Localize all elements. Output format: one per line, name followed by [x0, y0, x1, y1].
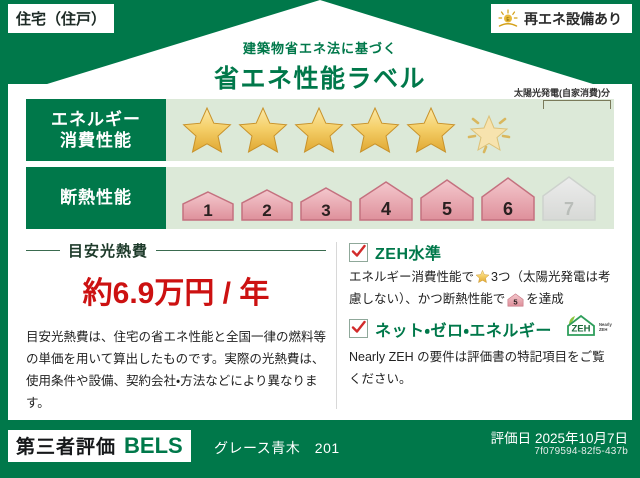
star-filled-2 — [236, 104, 290, 156]
evaluation-date-label: 評価日 — [491, 431, 532, 446]
inline-star-icon — [475, 269, 490, 284]
star-filled-5 — [404, 104, 458, 156]
solar-bracket — [543, 100, 611, 109]
label-footer: 第三者評価 BELS グレース青木 201 評価日 2025年10月7日 7f0… — [0, 420, 640, 478]
column-divider — [336, 242, 337, 409]
energy-label-card: 住宅（住戸） E 再エネ設備あり 建築物省エネ法に基づく 省エネ性能ラベル エネ… — [0, 0, 640, 478]
star-solar-6 — [460, 104, 518, 156]
insulation-level-2: 2 — [239, 183, 295, 222]
sun-icon: E — [497, 9, 519, 29]
energy-performance-row: エネルギー 消費性能 — [26, 99, 614, 161]
insulation-level-4: 4 — [357, 178, 415, 222]
cost-column: 目安光熱費 約6.9万円 / 年 目安光熱費は、住宅の省エネ性能と全国一律の燃料… — [26, 238, 336, 413]
svg-text:5: 5 — [442, 199, 452, 219]
insulation-level-5: 5 — [418, 177, 476, 222]
energy-performance-value: 太陽光発電(自家消費)分 — [166, 99, 614, 161]
insulation-level-6: 6 — [479, 176, 537, 222]
net-zero-head: ネット・ゼロ・エネルギー ZEH Nearly ZEH — [349, 313, 614, 344]
check-icon — [351, 244, 366, 259]
inline-house-badge-icon: 5 — [507, 293, 524, 307]
solar-star-note: 太陽光発電(自家消費)分 — [514, 86, 610, 99]
renewable-energy-badge-label: 再エネ設備あり — [524, 9, 622, 29]
check-icon — [351, 320, 366, 335]
evaluation-date-value: 2025年10月7日 — [535, 431, 628, 446]
cost-rule-right — [156, 250, 326, 251]
label-content: エネルギー 消費性能 — [8, 84, 632, 420]
svg-text:6: 6 — [503, 199, 513, 219]
zeh-standard-desc: エネルギー消費性能で3つ（太陽光発電は考慮しない）、かつ断熱性能で5を達成 — [349, 267, 614, 310]
bels-logo-text: BELS — [124, 433, 183, 459]
certification-zeh-standard: ZEH水準 エネルギー消費性能で3つ（太陽光発電は考慮しない）、かつ断熱性能で5… — [349, 240, 614, 310]
zeh-desc-part2: を達成 — [526, 292, 564, 306]
building-name: グレース青木 201 — [214, 438, 340, 458]
svg-text:4: 4 — [381, 199, 391, 219]
net-zero-desc: Nearly ZEH の要件は評価書の特記項目をご覧ください。 — [349, 347, 614, 390]
cost-heading: 目安光熱費 — [68, 240, 148, 261]
net-zero-title: ネット・ゼロ・エネルギー — [375, 317, 552, 341]
insulation-performance-value: 1 2 3 — [166, 167, 614, 229]
net-zero-checkbox[interactable] — [349, 319, 368, 338]
cost-heading-row: 目安光熱費 — [26, 240, 326, 261]
star-filled-1 — [180, 104, 234, 156]
insulation-level-1: 1 — [180, 184, 236, 222]
cost-value: 約6.9万円 / 年 — [26, 268, 326, 312]
certification-column: ZEH水準 エネルギー消費性能で3つ（太陽光発電は考慮しない）、かつ断熱性能で5… — [349, 238, 614, 413]
insulation-level-scale: 1 2 3 — [166, 175, 598, 222]
bels-badge: 第三者評価 BELS — [8, 430, 191, 462]
insulation-performance-label: 断熱性能 — [26, 167, 166, 229]
svg-text:7: 7 — [564, 199, 574, 219]
insulation-level-3: 3 — [298, 182, 354, 222]
zeh-standard-title: ZEH水準 — [375, 240, 442, 264]
category-tag: 住宅（住戸） — [8, 4, 114, 33]
star-filled-3 — [292, 104, 346, 156]
renewable-energy-badge: E 再エネ設備あり — [491, 4, 632, 33]
zeh-desc-part1: エネルギー消費性能で — [349, 270, 474, 284]
star-rating — [166, 104, 518, 156]
evaluation-id: 7f079594-82f5-437b — [534, 446, 628, 457]
certification-net-zero-energy: ネット・ゼロ・エネルギー ZEH Nearly ZEH Nearly ZEH の… — [349, 313, 614, 390]
zeh-logo-icon: ZEH Nearly ZEH — [563, 313, 613, 344]
evaluation-date: 評価日 2025年10月7日 — [491, 427, 628, 447]
insulation-performance-row: 断熱性能 — [26, 167, 614, 229]
energy-performance-label: エネルギー 消費性能 — [26, 99, 166, 161]
lower-section: 目安光熱費 約6.9万円 / 年 目安光熱費は、住宅の省エネ性能と全国一律の燃料… — [26, 238, 614, 413]
star-filled-4 — [348, 104, 402, 156]
svg-text:2: 2 — [262, 201, 271, 220]
svg-text:3: 3 — [321, 201, 330, 220]
zeh-standard-head: ZEH水準 — [349, 240, 614, 264]
third-party-eval-label: 第三者評価 — [16, 432, 116, 459]
svg-text:1: 1 — [203, 201, 212, 220]
energy-label-line1: エネルギー — [51, 109, 141, 130]
cost-rule-left — [26, 250, 60, 251]
cost-note: 目安光熱費は、住宅の省エネ性能と全国一律の燃料等の単価を用いて算出したものです。… — [26, 327, 326, 415]
energy-label-line2: 消費性能 — [60, 130, 132, 151]
insulation-level-7: 7 — [540, 175, 598, 222]
svg-text:ZEH: ZEH — [599, 327, 607, 332]
zeh-standard-checkbox[interactable] — [349, 243, 368, 262]
svg-text:ZEH: ZEH — [571, 324, 590, 335]
